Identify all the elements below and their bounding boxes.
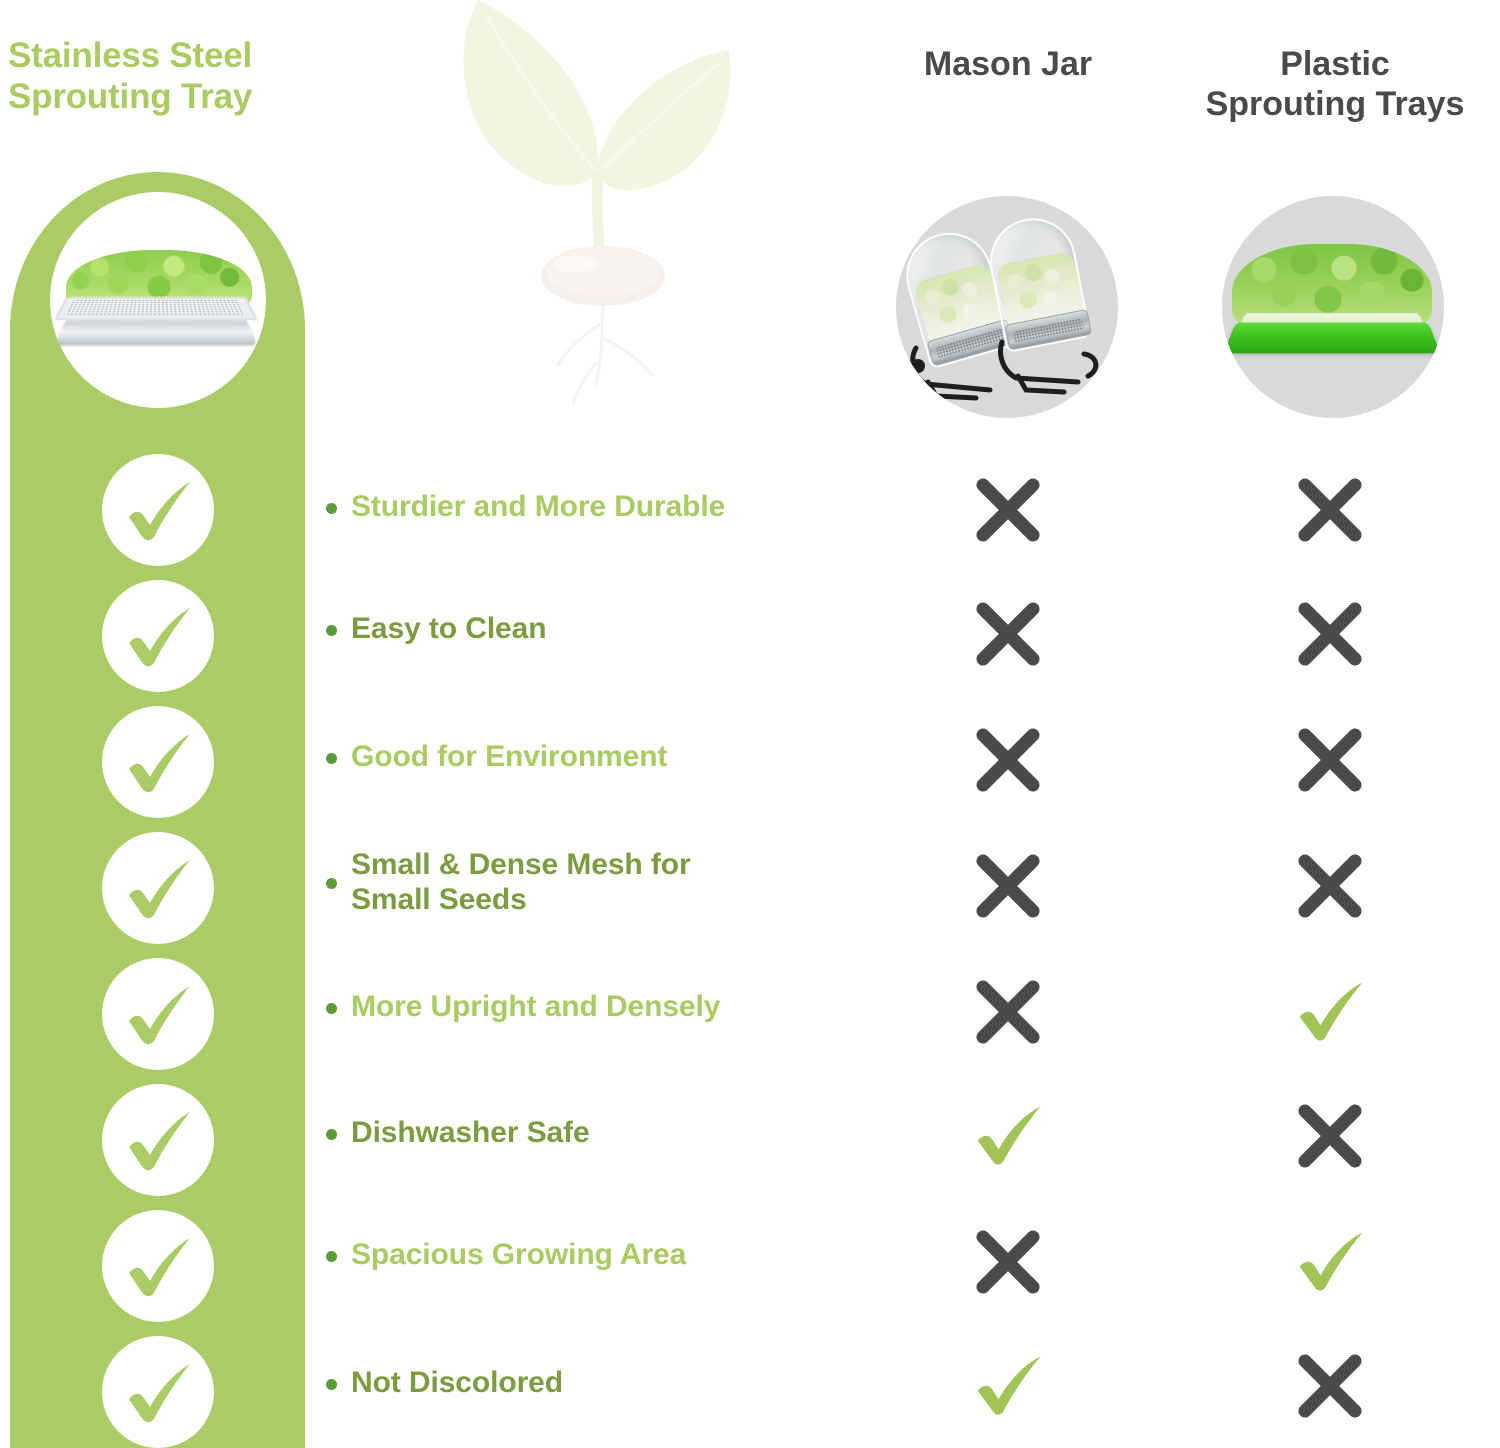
- check-mark-icon: [1294, 1226, 1366, 1298]
- page-title: Stainless Steel Sprouting Tray: [8, 36, 358, 117]
- check-mark-icon: [1294, 976, 1366, 1048]
- bullet-icon: [326, 1251, 337, 1262]
- feature-label-6: Dishwasher Safe: [351, 1116, 590, 1151]
- steel-tray-product-photo: [50, 192, 266, 408]
- bullet-icon: [326, 503, 337, 514]
- check-mark-icon: [972, 1100, 1044, 1172]
- steel-check-row-5: [102, 958, 214, 1070]
- cross-mark-icon: [1294, 1100, 1366, 1172]
- bullet-icon: [326, 1129, 337, 1140]
- feature-label-5: More Upright and Densely: [351, 990, 720, 1025]
- cross-mark-icon: [1294, 1350, 1366, 1422]
- bullet-icon: [326, 625, 337, 636]
- steel-check-row-8: [102, 1336, 214, 1448]
- sprout-seedling-icon: [445, 0, 735, 414]
- feature-label-4-line-2: Small Seeds: [351, 883, 527, 916]
- cross-mark-icon: [1294, 850, 1366, 922]
- cross-mark-icon: [972, 850, 1044, 922]
- column-header-plastic-trays: Plastic Sprouting Trays: [1185, 44, 1485, 124]
- plastic-tray-product-photo: [1222, 196, 1444, 418]
- feature-row-7: Spacious Growing Area: [326, 1238, 886, 1273]
- feature-label-4: Small & Dense Mesh for Small Seeds: [351, 848, 691, 918]
- mason-jar-product-photo: [896, 196, 1118, 418]
- bullet-icon: [326, 1003, 337, 1014]
- column-header-plastic-trays-line-2: Sprouting Trays: [1185, 84, 1485, 124]
- cross-mark-icon: [1294, 724, 1366, 796]
- feature-label-1: Sturdier and More Durable: [351, 490, 725, 525]
- steel-check-row-3: [102, 706, 214, 818]
- cross-mark-icon: [972, 976, 1044, 1048]
- cross-mark-icon: [972, 474, 1044, 546]
- feature-label-7: Spacious Growing Area: [351, 1238, 686, 1273]
- cross-mark-icon: [972, 1226, 1044, 1298]
- feature-row-6: Dishwasher Safe: [326, 1116, 886, 1151]
- bullet-icon: [326, 753, 337, 764]
- bullet-icon: [326, 878, 337, 889]
- cross-mark-icon: [1294, 474, 1366, 546]
- bullet-icon: [326, 1379, 337, 1390]
- feature-label-3: Good for Environment: [351, 740, 667, 775]
- feature-label-2: Easy to Clean: [351, 612, 546, 647]
- column-header-mason-jar: Mason Jar: [868, 44, 1148, 84]
- cross-mark-icon: [972, 724, 1044, 796]
- feature-row-4: Small & Dense Mesh for Small Seeds: [326, 848, 886, 918]
- feature-row-5: More Upright and Densely: [326, 990, 886, 1025]
- check-mark-icon: [972, 1350, 1044, 1422]
- steel-check-row-6: [102, 1084, 214, 1196]
- steel-check-row-4: [102, 832, 214, 944]
- jar-wire-stand: [906, 336, 1106, 402]
- column-header-plastic-trays-line-1: Plastic: [1185, 44, 1485, 84]
- steel-check-row-1: [102, 454, 214, 566]
- feature-label-4-line-1: Small & Dense Mesh for: [351, 848, 691, 881]
- cross-mark-icon: [972, 598, 1044, 670]
- tray-mesh: [66, 300, 245, 315]
- plastic-tray-body: [1224, 322, 1440, 353]
- feature-row-8: Not Discolored: [326, 1366, 886, 1401]
- feature-row-2: Easy to Clean: [326, 612, 886, 647]
- steel-check-row-7: [102, 1210, 214, 1322]
- column-header-mason-jar-label: Mason Jar: [868, 44, 1148, 84]
- steel-check-row-2: [102, 580, 214, 692]
- cross-mark-icon: [1294, 598, 1366, 670]
- product-title-line-2: Sprouting Tray: [8, 77, 358, 118]
- feature-row-3: Good for Environment: [326, 740, 886, 775]
- feature-label-8: Not Discolored: [351, 1366, 563, 1401]
- comparison-chart: Stainless Steel Sprouting Tray Mason Jar…: [0, 0, 1500, 1448]
- steel-tray-illustration: [56, 244, 260, 368]
- feature-row-1: Sturdier and More Durable: [326, 490, 886, 525]
- product-title-line-1: Stainless Steel: [8, 36, 358, 77]
